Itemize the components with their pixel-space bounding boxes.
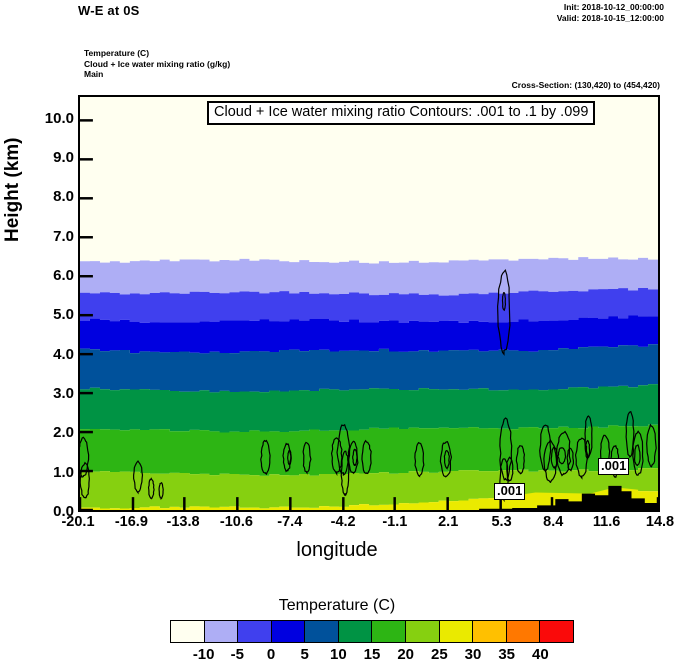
contour-title-box: Cloud + Ice water mixing ratio Contours:… [207,101,595,125]
colorbar-tick-label: 20 [397,646,414,663]
colorbar-swatch [406,621,440,642]
colorbar-swatch [440,621,474,642]
x-tick-label: 5.3 [491,514,511,530]
colorbar-tick-labels: -10-50510152025303540 [170,646,574,666]
x-tick-label: -1.1 [382,514,407,530]
field-label-mixing-ratio: Cloud + Ice water mixing ratio (g/kg) [84,59,230,70]
colorbar-tick-label: -5 [231,646,244,663]
temperature-colorbar [170,620,574,643]
colorbar-tick-label: 40 [532,646,549,663]
init-valid-block: Init: 2018-10-12_00:00:00 Valid: 2018-10… [557,2,664,24]
init-time-label: Init: 2018-10-12_00:00:00 [557,2,664,13]
x-tick-label: 2.1 [438,514,458,530]
y-tick-label: 1.0 [12,464,74,481]
x-axis-title: longitude [0,539,674,562]
y-tick-label: 9.0 [12,149,74,166]
field-label-domain: Main [84,69,230,80]
x-tick-label: 8.4 [543,514,563,530]
field-label-temperature: Temperature (C) [84,48,230,59]
colorbar-tick-label: -10 [193,646,215,663]
x-tick-label: -20.1 [61,514,94,530]
colorbar-swatch [171,621,205,642]
cross-section-plot [80,97,658,510]
x-tick-label: -4.2 [331,514,356,530]
colorbar-tick-label: 5 [300,646,308,663]
colorbar-swatch [305,621,339,642]
y-tick-label: 4.0 [12,346,74,363]
y-tick-label: 10.0 [12,110,74,127]
colorbar-tick-label: 30 [465,646,482,663]
colorbar-title: Temperature (C) [0,597,674,615]
contour-value-label: .001 [494,483,525,500]
x-tick-label: -13.8 [167,514,200,530]
y-tick-label: 8.0 [12,188,74,205]
contour-value-label: .001 [598,458,629,475]
colorbar-tick-label: 35 [498,646,515,663]
y-tick-label: 6.0 [12,267,74,284]
x-tick-label: -16.9 [115,514,148,530]
plot-area [78,95,660,512]
colorbar-swatch [473,621,507,642]
colorbar-swatch [272,621,306,642]
x-axis-tick-labels: -20.1-16.9-13.8-10.6-7.4-4.2-1.12.15.38.… [0,514,674,536]
cross-section-label: Cross-Section: (130,420) to (454,420) [512,80,660,90]
valid-time-label: Valid: 2018-10-15_12:00:00 [557,13,664,24]
colorbar-swatch [205,621,239,642]
colorbar-swatch [507,621,541,642]
x-tick-label: -10.6 [220,514,253,530]
x-tick-label: 14.8 [646,514,674,530]
y-tick-label: 7.0 [12,228,74,245]
colorbar-tick-label: 25 [431,646,448,663]
field-description-block: Temperature (C) Cloud + Ice water mixing… [84,48,230,80]
colorbar-tick-label: 15 [364,646,381,663]
x-tick-label: 11.6 [593,514,620,530]
y-tick-label: 5.0 [12,306,74,323]
x-tick-label: -7.4 [277,514,302,530]
colorbar-swatch [540,621,573,642]
page-title: W-E at 0S [78,3,140,18]
colorbar-tick-label: 10 [330,646,347,663]
y-tick-label: 2.0 [12,424,74,441]
colorbar-swatch [238,621,272,642]
y-axis-tick-labels: 0.01.02.03.04.05.06.07.08.09.010.0 [8,95,74,512]
y-tick-label: 3.0 [12,385,74,402]
colorbar-swatch [339,621,373,642]
colorbar-swatch [372,621,406,642]
colorbar-tick-label: 0 [267,646,275,663]
